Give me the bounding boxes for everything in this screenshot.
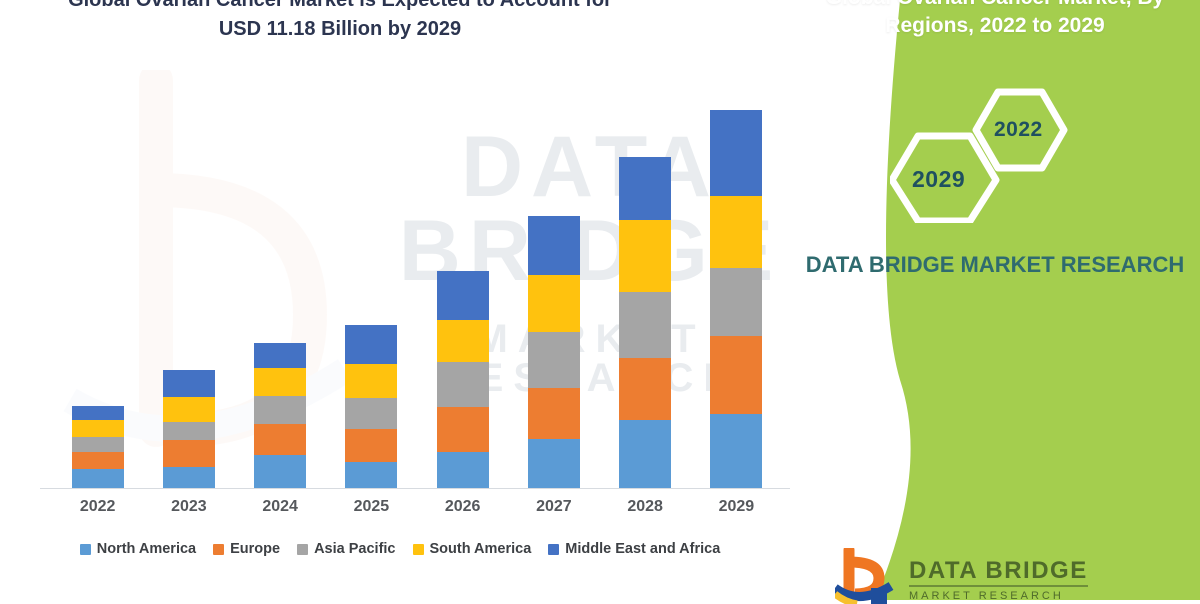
bar-segment — [619, 358, 671, 420]
x-axis-label: 2022 — [59, 498, 137, 516]
legend-item: South America — [413, 541, 532, 557]
bar-column — [619, 157, 671, 488]
x-axis-tick-labels: 20222023202420252026202720282029 — [52, 498, 782, 524]
legend-label: North America — [97, 541, 196, 557]
bar-segment — [710, 196, 762, 268]
panel-title: Global Ovarian Cancer Market, By Regions… — [810, 0, 1180, 39]
legend-swatch — [548, 544, 559, 555]
bar-segment — [619, 157, 671, 220]
bar-segment — [528, 439, 580, 488]
bar-segment — [345, 398, 397, 429]
legend-swatch — [297, 544, 308, 555]
legend-swatch — [213, 544, 224, 555]
legend-item: Asia Pacific — [297, 541, 395, 557]
bar-segment — [710, 110, 762, 196]
bar-segment — [72, 437, 124, 452]
hexagon-year-group: 2022 2029 — [890, 88, 1100, 223]
bar-column — [345, 325, 397, 488]
logo-line-2: MARKET RESEARCH — [909, 590, 1088, 602]
x-axis-label: 2026 — [424, 498, 502, 516]
bar-segment — [619, 420, 671, 488]
x-axis-label: 2025 — [332, 498, 410, 516]
bar-segment — [72, 452, 124, 469]
bar-segment — [72, 420, 124, 436]
bar-segment — [710, 268, 762, 337]
bar-segment — [72, 406, 124, 421]
legend-item: Middle East and Africa — [548, 541, 720, 557]
bar-segment — [710, 336, 762, 414]
bar-column — [528, 216, 580, 488]
chart-legend: North AmericaEuropeAsia PacificSouth Ame… — [0, 541, 800, 557]
x-axis-label: 2024 — [241, 498, 319, 516]
bar-segment — [528, 332, 580, 388]
x-axis-label: 2027 — [515, 498, 593, 516]
green-panel-content: Global Ovarian Cancer Market, By Regions… — [780, 0, 1200, 600]
legend-label: South America — [430, 541, 532, 557]
x-axis-line — [40, 488, 790, 489]
chart-title: Global Ovarian Cancer Market is Expected… — [60, 0, 620, 44]
panel-brand-text: DATA BRIDGE MARKET RESEARCH — [800, 250, 1190, 280]
bar-segment — [710, 414, 762, 488]
hexagon-outlines-icon — [890, 88, 1100, 223]
x-axis-label: 2023 — [150, 498, 228, 516]
logo-text: DATA BRIDGE MARKET RESEARCH — [909, 548, 1088, 602]
bar-segment — [254, 424, 306, 455]
bar-segment — [254, 368, 306, 396]
hexagon-label-start: 2022 — [994, 118, 1043, 142]
bar-segment — [163, 440, 215, 467]
bar-column — [254, 343, 306, 488]
bar-column — [437, 271, 489, 488]
legend-swatch — [80, 544, 91, 555]
stacked-bar-plot — [52, 110, 782, 488]
bar-segment — [528, 275, 580, 333]
bar-segment — [345, 462, 397, 488]
legend-label: Europe — [230, 541, 280, 557]
bar-segment — [345, 325, 397, 363]
bar-segment — [619, 292, 671, 359]
b-logo-mark-icon — [835, 548, 897, 604]
bar-segment — [163, 422, 215, 440]
legend-swatch — [413, 544, 424, 555]
x-axis-label: 2029 — [697, 498, 775, 516]
logo-line-1: DATA BRIDGE — [909, 558, 1088, 587]
bar-segment — [528, 388, 580, 438]
hexagon-label-end: 2029 — [912, 166, 965, 193]
bar-segment — [437, 320, 489, 362]
bar-column — [710, 110, 762, 488]
bar-segment — [345, 364, 397, 398]
bar-segment — [163, 370, 215, 397]
bar-segment — [163, 467, 215, 488]
legend-label: Asia Pacific — [314, 541, 395, 557]
x-axis-label: 2028 — [606, 498, 684, 516]
bar-segment — [437, 452, 489, 489]
chart-region: Global Ovarian Cancer Market is Expected… — [0, 0, 800, 600]
legend-item: Europe — [213, 541, 280, 557]
data-bridge-logo: DATA BRIDGE MARKET RESEARCH — [835, 548, 1195, 604]
legend-label: Middle East and Africa — [565, 541, 720, 557]
bar-segment — [254, 396, 306, 424]
bar-segment — [163, 397, 215, 422]
bar-segment — [437, 271, 489, 320]
bar-column — [163, 370, 215, 488]
bar-segment — [254, 343, 306, 368]
bar-segment — [437, 407, 489, 452]
bar-segment — [254, 455, 306, 488]
legend-item: North America — [80, 541, 196, 557]
bar-segment — [345, 429, 397, 462]
bar-segment — [528, 216, 580, 275]
bar-segment — [437, 362, 489, 407]
bar-segment — [72, 469, 124, 488]
bar-column — [72, 406, 124, 488]
bar-segment — [619, 220, 671, 292]
